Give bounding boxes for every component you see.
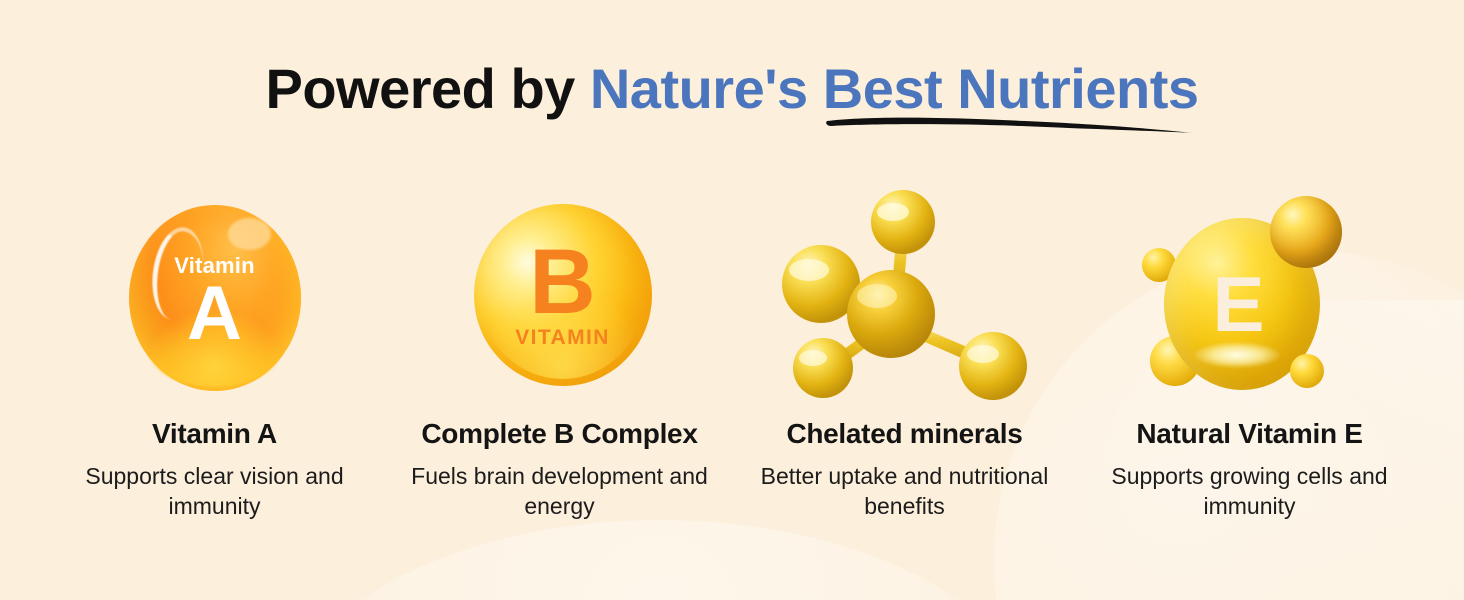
nutrient-card-vitamin-e: E Natural Vitamin E Supports growing cel… [1077,190,1422,521]
card-title-vitamin-e: Natural Vitamin E [1136,418,1362,450]
molecule-node-top [871,190,935,254]
card-desc-vitamin-a: Supports clear vision and immunity [55,462,375,521]
molecule-highlight-top [877,203,909,221]
vitamin-a-letter-label: A [187,279,242,349]
molecule-highlight-bottom-left [799,350,827,366]
card-title-vitamin-a: Vitamin A [152,418,277,450]
vitamin-b-letter-label: B [529,242,595,323]
nutrient-card-vitamin-a: Vitamin A Vitamin A Supports clear visio… [42,190,387,521]
page-title: Powered by Nature's Best Nutrients [265,58,1198,120]
chelated-minerals-art [775,190,1035,400]
vitamin-a-label-group: Vitamin A [129,205,301,391]
molecule-highlight-left [789,259,829,281]
vitamin-b-word-label: VITAMIN [515,326,610,350]
vitamin-b-art: B VITAMIN [430,190,690,400]
molecule-highlight-bottom-right [967,345,999,363]
card-title-b-complex: Complete B Complex [421,418,697,450]
nutrient-card-b-complex: B VITAMIN Complete B Complex Fuels brain… [387,190,732,521]
vitamin-b-pill-icon: B VITAMIN [474,204,652,386]
molecule-node-bottom-right [959,332,1027,400]
nutrient-cards-row: Vitamin A Vitamin A Supports clear visio… [0,190,1464,521]
vitamin-a-pill-icon: Vitamin A [129,205,301,391]
molecule-node-bottom-left [793,338,853,398]
vitamin-e-art: E [1120,190,1380,400]
headline-container: Powered by Nature's Best Nutrients [0,58,1464,120]
vitamin-a-art: Vitamin A [85,190,345,400]
card-desc-b-complex: Fuels brain development and energy [400,462,720,521]
nutrients-banner: Powered by Nature's Best Nutrients Vitam… [0,0,1464,600]
card-desc-vitamin-e: Supports growing cells and immunity [1090,462,1410,521]
vitamin-b-label-group: B VITAMIN [474,204,652,386]
background-swoosh-bottom [280,520,1040,600]
card-desc-chelated-minerals: Better uptake and nutritional benefits [745,462,1065,521]
molecule-node-core [847,270,935,358]
card-title-chelated-minerals: Chelated minerals [786,418,1022,450]
vitamin-e-pill-icon: E [1142,196,1362,396]
molecule-icon [775,190,1035,400]
molecule-highlight-core [857,284,897,308]
title-accent-text: Nature's Best Nutrients [590,57,1199,120]
nutrient-card-chelated-minerals: Chelated minerals Better uptake and nutr… [732,190,1077,521]
title-plain-text: Powered by [265,57,589,120]
vitamin-e-letter-label: E [1164,218,1320,390]
